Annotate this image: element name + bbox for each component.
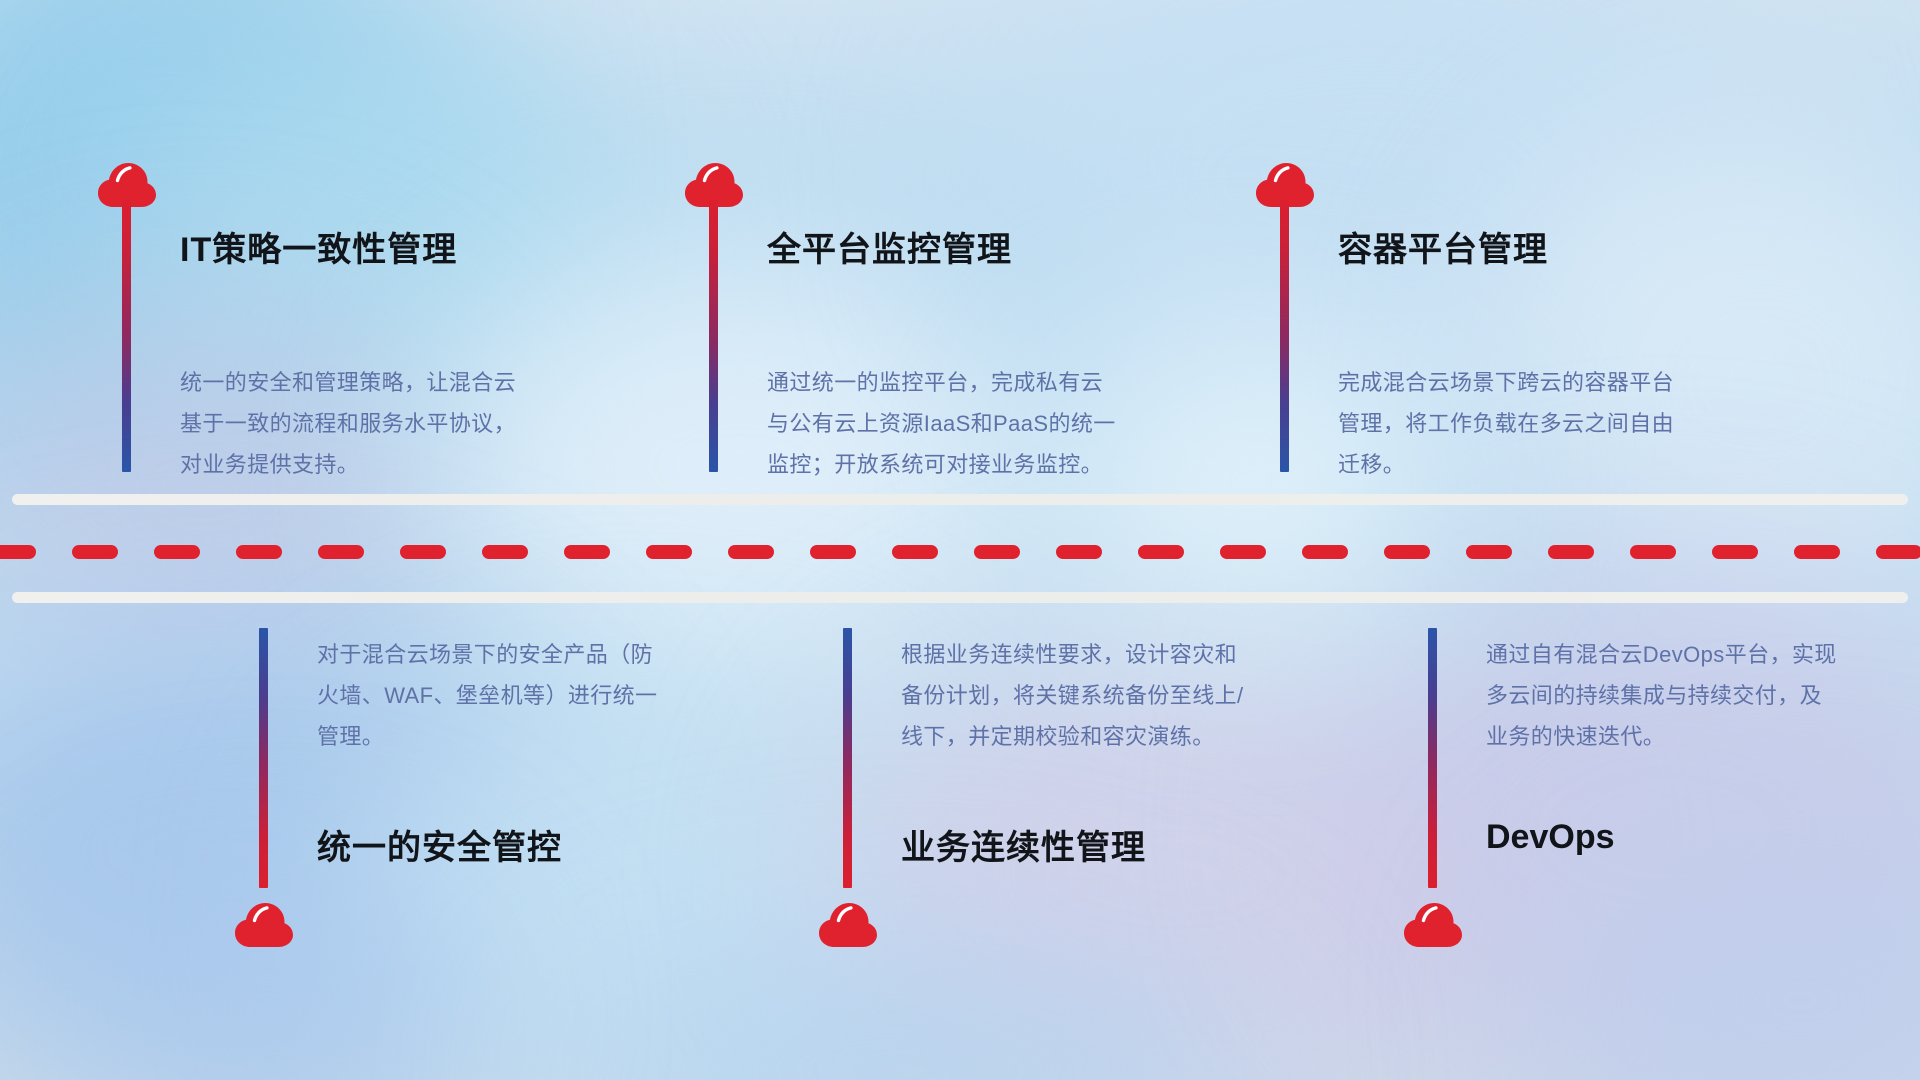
dash-segment — [564, 545, 610, 559]
dash-segment — [154, 545, 200, 559]
cloud-icon — [233, 898, 295, 950]
dash-segment — [646, 545, 692, 559]
dash-segment — [810, 545, 856, 559]
dash-segment — [1138, 545, 1184, 559]
cloud-icon — [1402, 898, 1464, 950]
dash-segment — [1876, 545, 1920, 559]
divider-line-bottom — [12, 592, 1908, 603]
card-heading: 业务连续性管理 — [901, 820, 1146, 869]
card-heading: 容器平台管理 — [1338, 222, 1548, 271]
connector-line — [259, 628, 268, 888]
cloud-icon — [817, 898, 879, 950]
card-heading: 统一的安全管控 — [317, 820, 562, 869]
card-body: 根据业务连续性要求，设计容灾和备份计划，将关键系统备份至线上/线下，并定期校验和… — [901, 634, 1256, 757]
connector-line — [1280, 200, 1289, 472]
connector-line — [709, 200, 718, 472]
card-heading: IT策略一致性管理 — [180, 222, 457, 271]
dash-segment — [1302, 545, 1348, 559]
dash-segment — [400, 545, 446, 559]
dash-segment — [892, 545, 938, 559]
card-body: 通过统一的监控平台，完成私有云与公有云上资源IaaS和PaaS的统一监控；开放系… — [767, 362, 1122, 485]
dash-segment — [236, 545, 282, 559]
dash-segment — [1712, 545, 1758, 559]
dash-segment — [1794, 545, 1840, 559]
card-body: 完成混合云场景下跨云的容器平台管理，将工作负载在多云之间自由迁移。 — [1338, 362, 1693, 485]
dash-segment — [1466, 545, 1512, 559]
dash-segment — [0, 545, 36, 559]
dash-segment — [482, 545, 528, 559]
dash-segment — [1384, 545, 1430, 559]
connector-line — [843, 628, 852, 888]
card-body: 对于混合云场景下的安全产品（防火墙、WAF、堡垒机等）进行统一管理。 — [317, 634, 672, 757]
dashed-separator — [0, 545, 1920, 559]
dash-segment — [974, 545, 1020, 559]
card-heading: 全平台监控管理 — [767, 222, 1012, 271]
card-heading: DevOps — [1486, 818, 1615, 857]
dash-segment — [1056, 545, 1102, 559]
dash-segment — [318, 545, 364, 559]
card-body: 统一的安全和管理策略，让混合云基于一致的流程和服务水平协议，对业务提供支持。 — [180, 362, 535, 485]
connector-line — [122, 200, 131, 472]
divider-line-top — [12, 494, 1908, 505]
dash-segment — [1548, 545, 1594, 559]
dash-segment — [728, 545, 774, 559]
dash-segment — [72, 545, 118, 559]
dash-segment — [1220, 545, 1266, 559]
dash-segment — [1630, 545, 1676, 559]
card-body: 通过自有混合云DevOps平台，实现多云间的持续集成与持续交付，及业务的快速迭代… — [1486, 634, 1841, 757]
connector-line — [1428, 628, 1437, 888]
